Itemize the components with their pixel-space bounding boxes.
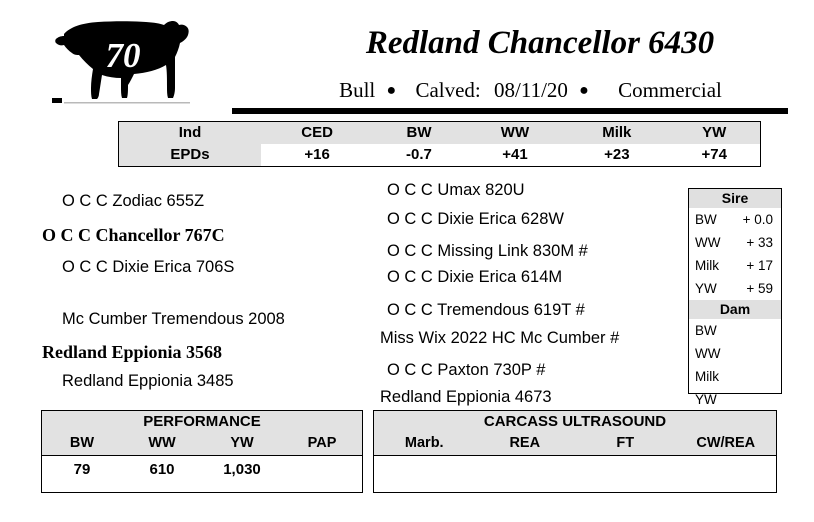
epd-value-row: EPDs +16 -0.7 +41 +23 +74 — [119, 144, 761, 167]
sire-trait-yw: YW — [695, 277, 717, 300]
dam-section-title: Dam — [689, 300, 781, 319]
epd-value-ced: +16 — [261, 144, 373, 167]
carcass-header-marb: Marb. — [374, 432, 475, 455]
dam-row-ww: WW — [689, 342, 781, 365]
pedigree-mid-7: Redland Eppionia 4673 — [380, 388, 552, 407]
sire-value-ww: + 33 — [746, 231, 773, 254]
dam-trait-milk: Milk — [695, 365, 719, 388]
registration-type: Commercial — [600, 78, 722, 102]
performance-header-yw: YW — [202, 432, 282, 455]
lot-number: 70 — [48, 38, 198, 73]
animal-sex: Bull — [339, 78, 375, 102]
pedigree-mid-0: O C C Umax 820U — [387, 181, 525, 200]
performance-value-ww: 610 — [122, 456, 202, 484]
dam-trait-bw: BW — [695, 319, 717, 342]
epd-value-yw: +74 — [669, 144, 761, 167]
sire-trait-milk: Milk — [695, 254, 719, 277]
animal-subtitle: Bull ● Calved: 08/11/20 ● Commercial — [258, 78, 803, 103]
carcass-value-cwrea — [676, 456, 777, 484]
performance-header-ww: WW — [122, 432, 202, 455]
dam-row-yw: YW — [689, 388, 781, 411]
pedigree-left-1: O C C Chancellor 767C — [42, 226, 225, 245]
pedigree-left-4: Redland Eppionia 3568 — [42, 343, 222, 362]
calved-date: 08/11/20 — [486, 78, 568, 102]
pedigree-mid-1: O C C Dixie Erica 628W — [387, 210, 564, 229]
sire-row-bw: BW + 0.0 — [689, 208, 781, 231]
carcass-value-row — [374, 456, 776, 484]
pedigree-left-3: Mc Cumber Tremendous 2008 — [62, 310, 285, 329]
performance-table: PERFORMANCE BW WW YW PAP 79 610 1,030 — [41, 410, 363, 493]
sire-row-ww: WW + 33 — [689, 231, 781, 254]
performance-value-row: 79 610 1,030 — [42, 456, 362, 484]
header-divider — [232, 108, 788, 114]
pedigree-mid-3: O C C Dixie Erica 614M — [387, 268, 562, 287]
dam-trait-yw: YW — [695, 388, 717, 411]
sire-value-yw: + 59 — [746, 277, 773, 300]
pedigree-left-0: O C C Zodiac 655Z — [62, 192, 204, 211]
epd-value-ww: +41 — [465, 144, 565, 167]
bull-silhouette-image: 70 — [48, 12, 198, 109]
sire-trait-bw: BW — [695, 208, 717, 231]
epd-header-bw: BW — [373, 122, 465, 145]
calved-label: Calved: — [407, 78, 480, 102]
performance-value-pap — [282, 456, 362, 484]
sire-value-bw: + 0.0 — [743, 208, 773, 231]
pedigree-mid-5: Miss Wix 2022 HC Mc Cumber # — [380, 329, 619, 348]
epd-table: Ind CED BW WW Milk YW EPDs +16 -0.7 +41 … — [118, 121, 761, 167]
pedigree-left-2: O C C Dixie Erica 706S — [62, 258, 234, 277]
performance-header-pap: PAP — [282, 432, 362, 455]
sire-dam-epd-box: Sire BW + 0.0 WW + 33 Milk + 17 YW + 59 … — [688, 188, 782, 394]
pedigree-mid-2: O C C Missing Link 830M # — [387, 242, 588, 261]
carcass-value-marb — [374, 456, 475, 484]
epd-header-ww: WW — [465, 122, 565, 145]
epd-row-label-ind: Ind — [119, 122, 262, 145]
sire-value-milk: + 17 — [746, 254, 773, 277]
performance-header-bw: BW — [42, 432, 122, 455]
performance-value-bw: 79 — [42, 456, 122, 484]
epd-value-milk: +23 — [565, 144, 668, 167]
pedigree-mid-6: O C C Paxton 730P # — [387, 361, 545, 380]
performance-value-yw: 1,030 — [202, 456, 282, 484]
pedigree-mid-4: O C C Tremendous 619T # — [387, 301, 585, 320]
sire-trait-ww: WW — [695, 231, 720, 254]
dam-row-bw: BW — [689, 319, 781, 342]
epd-header-yw: YW — [669, 122, 761, 145]
performance-caption: PERFORMANCE — [42, 411, 362, 432]
dam-row-milk: Milk — [689, 365, 781, 388]
epd-header-milk: Milk — [565, 122, 668, 145]
animal-name: Redland Chancellor 6430 — [280, 24, 800, 62]
carcass-value-rea — [475, 456, 576, 484]
sire-row-milk: Milk + 17 — [689, 254, 781, 277]
epd-row-label-epds: EPDs — [119, 144, 262, 167]
carcass-header-rea: REA — [475, 432, 576, 455]
epd-value-bw: -0.7 — [373, 144, 465, 167]
sire-section-title: Sire — [689, 189, 781, 208]
bullet-separator-icon-2: ● — [573, 79, 595, 103]
performance-header-row: BW WW YW PAP — [42, 432, 362, 456]
carcass-header-row: Marb. REA FT CW/REA — [374, 432, 776, 456]
epd-header-row: Ind CED BW WW Milk YW — [119, 122, 761, 145]
pedigree-left-5: Redland Eppionia 3485 — [62, 372, 234, 391]
sale-catalog-page: 70 Redland Chancellor 6430 Bull ● Calved… — [0, 0, 814, 522]
bullet-separator-icon: ● — [381, 79, 403, 103]
dam-trait-ww: WW — [695, 342, 720, 365]
sire-row-yw: YW + 59 — [689, 277, 781, 300]
carcass-caption: CARCASS ULTRASOUND — [374, 411, 776, 432]
carcass-value-ft — [575, 456, 676, 484]
carcass-ultrasound-table: CARCASS ULTRASOUND Marb. REA FT CW/REA — [373, 410, 777, 493]
carcass-header-ft: FT — [575, 432, 676, 455]
epd-header-ced: CED — [261, 122, 373, 145]
carcass-header-cwrea: CW/REA — [676, 432, 777, 455]
